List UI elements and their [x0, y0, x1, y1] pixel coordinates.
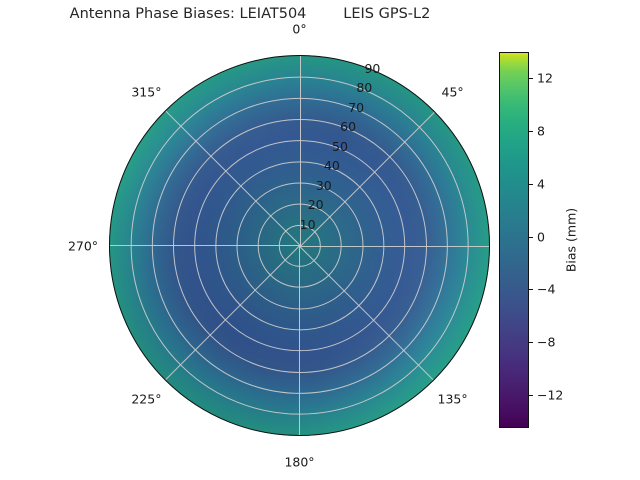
colorbar-tick-label: −12 [537, 388, 563, 403]
theta-tick-label-225: 225° [131, 391, 161, 406]
colorbar-tick-mark [529, 289, 533, 290]
colorbar-tick-mark [529, 78, 533, 79]
colorbar-tick-label: 12 [537, 71, 553, 86]
polar-axes[interactable]: 0°45°90°135°180°225°270°315° 10203040506… [109, 55, 490, 436]
colorbar-tick-label: 0 [537, 229, 545, 244]
colorbar-tick-mark [529, 395, 533, 396]
colorbar-tick-label: −4 [537, 282, 555, 297]
r-tick-label-30: 30 [316, 178, 332, 193]
r-tick-label-40: 40 [324, 158, 340, 173]
colorbar-gradient [499, 52, 529, 428]
theta-tick-label-0: 0° [292, 22, 306, 37]
theta-tick-label-180: 180° [284, 455, 314, 470]
colorbar-title: Bias (mm) [564, 208, 579, 272]
theta-tick-label-135: 135° [438, 391, 468, 406]
r-tick-label-80: 80 [356, 80, 372, 95]
colorbar-tick-mark [529, 131, 533, 132]
theta-tick-label-270: 270° [68, 238, 98, 253]
colorbar-tick-label: 4 [537, 176, 545, 191]
figure-canvas: Antenna Phase Biases: LEIAT504 LEIS GPS-… [0, 0, 640, 480]
theta-tick-label-45: 45° [442, 85, 464, 100]
r-tick-label-10: 10 [300, 217, 316, 232]
r-tick-label-90: 90 [364, 61, 380, 76]
colorbar-tick-label: −8 [537, 335, 555, 350]
bias-field-modulation-ne [109, 55, 490, 436]
colorbar-tick-mark [529, 184, 533, 185]
r-tick-label-60: 60 [340, 119, 356, 134]
colorbar-axes[interactable]: 12840−4−8−12 [499, 52, 529, 428]
theta-tick-label-315: 315° [131, 85, 161, 100]
colorbar-tick-mark [529, 237, 533, 238]
figure-title: Antenna Phase Biases: LEIAT504 LEIS GPS-… [0, 6, 500, 22]
colorbar-tick-label: 8 [537, 124, 545, 139]
colorbar-tick-mark [529, 342, 533, 343]
r-tick-label-50: 50 [332, 139, 348, 154]
polar-data-disc [109, 55, 490, 436]
r-tick-label-70: 70 [348, 100, 364, 115]
r-tick-label-20: 20 [308, 197, 324, 212]
